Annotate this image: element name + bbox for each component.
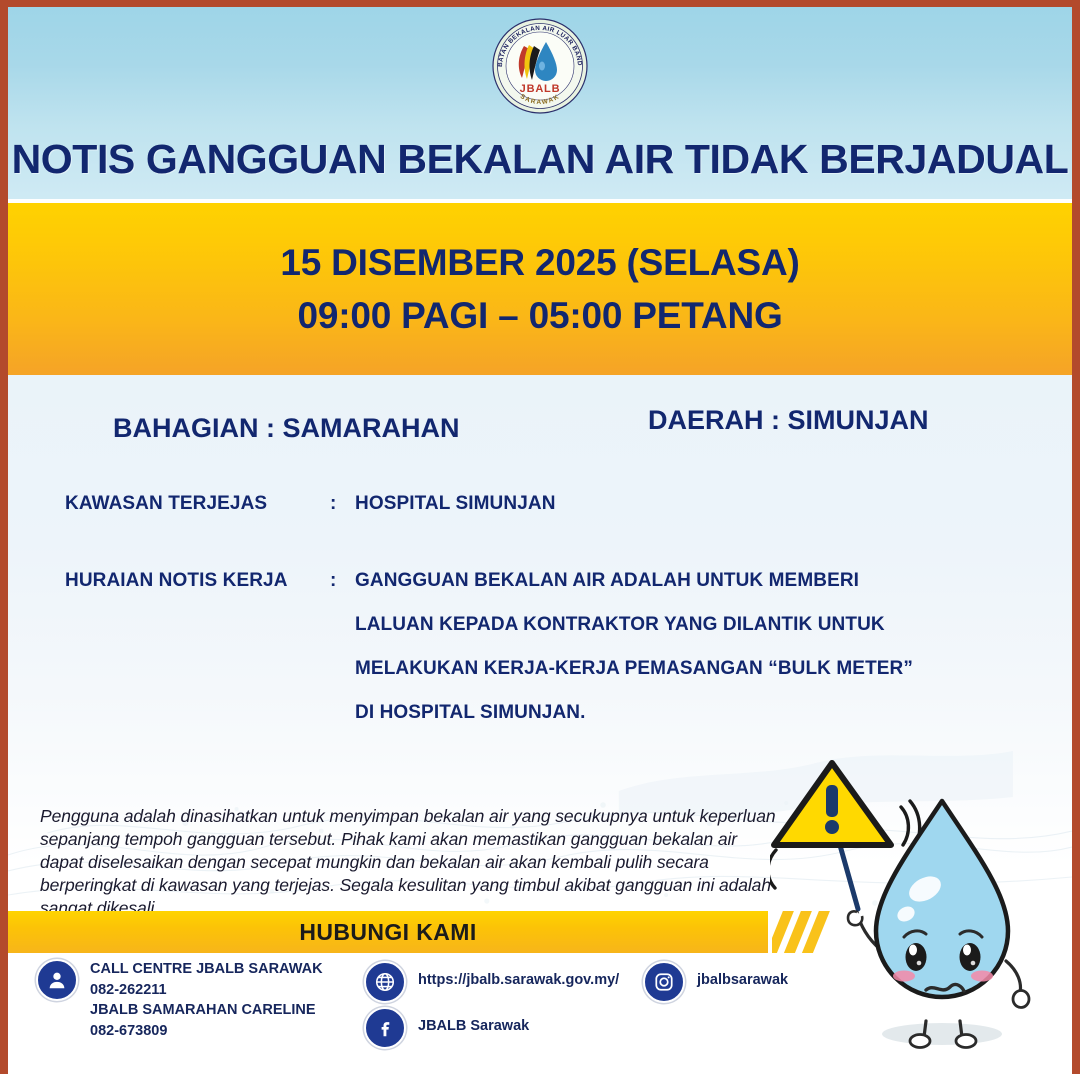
facebook-handle[interactable]: JBALB Sarawak xyxy=(418,1016,529,1037)
field-label: HURAIAN NOTIS KERJA xyxy=(65,570,288,592)
contact-call-text: CALL CENTRE JBALB SARAWAK 082-262211 JBA… xyxy=(90,959,323,1041)
svg-text:JBALB: JBALB xyxy=(520,83,561,95)
field-value: HOSPITAL SIMUNJAN xyxy=(355,493,556,515)
instagram-handle[interactable]: jbalbsarawak xyxy=(697,970,788,991)
globe-icon xyxy=(364,961,406,1003)
website-url[interactable]: https://jbalb.sarawak.gov.my/ xyxy=(418,970,619,991)
advisory-text: Pengguna adalah dinasihatkan untuk menyi… xyxy=(40,805,785,920)
notice-body: BAHAGIAN : SAMARAHAN DAERAH : SIMUNJAN K… xyxy=(8,375,1072,1074)
district-label: DAERAH : SIMUNJAN xyxy=(648,405,929,436)
careline-name: JBALB SAMARAHAN CARELINE xyxy=(90,1002,316,1018)
contact-instagram[interactable]: jbalbsarawak xyxy=(643,961,788,1003)
jbalb-logo: JABATAN BEKALAN AIR LUAR BANDAR SARAWAK … xyxy=(490,16,590,116)
field-value-line: GANGGUAN BEKALAN AIR ADALAH UNTUK MEMBER… xyxy=(355,570,859,592)
contact-banner: HUBUNGI KAMI xyxy=(8,911,768,953)
call-centre-number: 082-262211 xyxy=(90,982,167,998)
notice-poster: JABATAN BEKALAN AIR LUAR BANDAR SARAWAK … xyxy=(0,0,1080,1074)
page-title: NOTIS GANGGUAN BEKALAN AIR TIDAK BERJADU… xyxy=(8,136,1072,183)
field-colon: : xyxy=(330,493,336,515)
field-value-line: DI HOSPITAL SIMUNJAN. xyxy=(355,702,585,724)
contacts-list: CALL CENTRE JBALB SARAWAK 082-262211 JBA… xyxy=(8,959,1072,1074)
field-value-line: LALUAN KEPADA KONTRAKTOR YANG DILANTIK U… xyxy=(355,614,885,636)
notice-time: 09:00 PAGI – 05:00 PETANG xyxy=(297,297,782,334)
field-label: KAWASAN TERJEJAS xyxy=(65,493,267,515)
contact-banner-label: HUBUNGI KAMI xyxy=(299,919,476,946)
region-row: BAHAGIAN : SAMARAHAN DAERAH : SIMUNJAN xyxy=(8,405,1072,447)
date-time-banner: 15 DISEMBER 2025 (SELASA) 09:00 PAGI – 0… xyxy=(8,203,1072,375)
division-label: BAHAGIAN : SAMARAHAN xyxy=(113,413,459,444)
contact-facebook[interactable]: JBALB Sarawak xyxy=(364,1007,529,1049)
field-value-line: MELAKUKAN KERJA-KERJA PEMASANGAN “BULK M… xyxy=(355,658,913,680)
notice-date: 15 DISEMBER 2025 (SELASA) xyxy=(280,244,799,281)
call-centre-name: CALL CENTRE JBALB SARAWAK xyxy=(90,961,323,977)
careline-number: 082-673809 xyxy=(90,1023,167,1039)
header-band: JABATAN BEKALAN AIR LUAR BANDAR SARAWAK … xyxy=(8,7,1072,199)
facebook-icon xyxy=(364,1007,406,1049)
instagram-icon xyxy=(643,961,685,1003)
field-colon: : xyxy=(330,570,336,592)
person-icon xyxy=(36,959,78,1001)
contact-call-centre[interactable]: CALL CENTRE JBALB SARAWAK 082-262211 JBA… xyxy=(36,959,323,1041)
banner-slash-decoration xyxy=(772,911,842,953)
contact-website[interactable]: https://jbalb.sarawak.gov.my/ xyxy=(364,961,619,1003)
